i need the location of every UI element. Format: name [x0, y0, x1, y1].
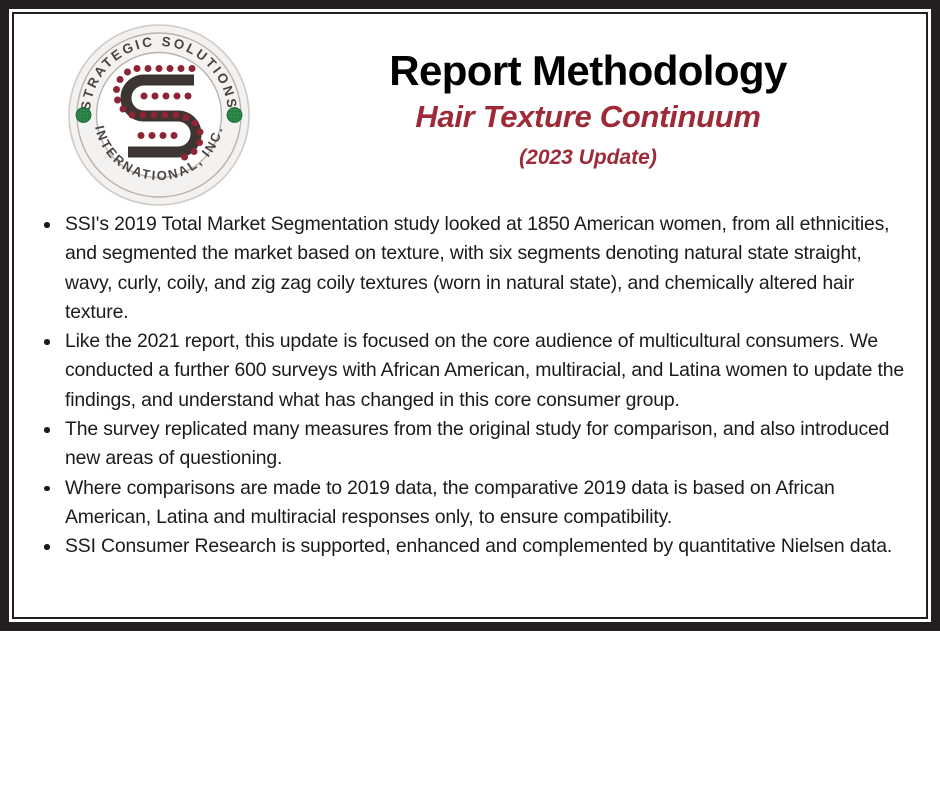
list-item: Like the 2021 report, this update is foc…: [36, 327, 914, 415]
page-update-note: (2023 Update): [260, 144, 916, 171]
page-title: Report Methodology: [260, 48, 916, 93]
page-subtitle: Hair Texture Continuum: [260, 97, 916, 137]
list-item: Where comparisons are made to 2019 data,…: [36, 474, 914, 533]
ssi-seal-logo: STRATEGIC SOLUTIONS INTERNATIONAL, INC.: [66, 22, 252, 208]
methodology-bullet-list: SSI's 2019 Total Market Segmentation stu…: [36, 210, 914, 562]
list-item: The survey replicated many measures from…: [36, 415, 914, 474]
slide-card: STRATEGIC SOLUTIONS INTERNATIONAL, INC.: [0, 0, 940, 631]
slide-header: STRATEGIC SOLUTIONS INTERNATIONAL, INC.: [14, 14, 926, 200]
slide-inner-frame: STRATEGIC SOLUTIONS INTERNATIONAL, INC.: [12, 12, 928, 619]
list-item: SSI Consumer Research is supported, enha…: [36, 532, 914, 561]
title-block: Report Methodology Hair Texture Continuu…: [260, 48, 916, 171]
list-item: SSI's 2019 Total Market Segmentation stu…: [36, 210, 914, 327]
